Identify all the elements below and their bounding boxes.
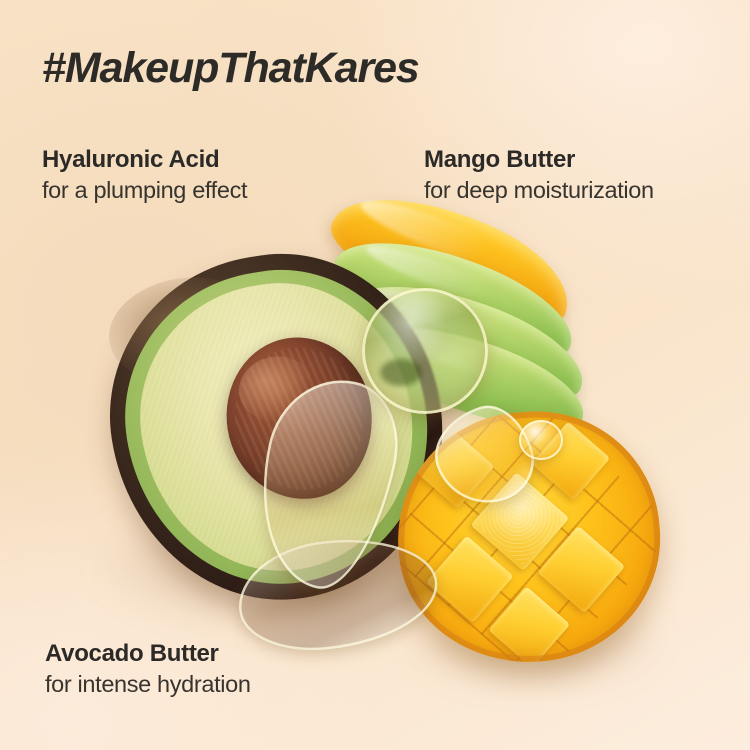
ingredient-banner: #MakeupThatKares Hyaluronic Acid for a p… bbox=[0, 0, 750, 750]
product-ingredient-photo bbox=[0, 0, 750, 750]
ingredient-name: Mango Butter bbox=[424, 146, 654, 174]
ingredient-callout-mango-butter: Mango Butter for deep moisturization bbox=[424, 146, 654, 205]
page-title: #MakeupThatKares bbox=[42, 44, 419, 93]
ingredient-benefit: for intense hydration bbox=[45, 670, 251, 699]
ingredient-benefit: for deep moisturization bbox=[424, 176, 654, 205]
ingredient-benefit: for a plumping effect bbox=[42, 176, 247, 205]
oil-bead-icon bbox=[519, 420, 563, 460]
ingredient-name: Hyaluronic Acid bbox=[42, 146, 247, 174]
ingredient-name: Avocado Butter bbox=[45, 640, 251, 668]
oil-lens-droplet bbox=[362, 288, 488, 414]
ingredient-callout-hyaluronic-acid: Hyaluronic Acid for a plumping effect bbox=[42, 146, 247, 205]
ingredient-callout-avocado-butter: Avocado Butter for intense hydration bbox=[45, 640, 251, 699]
